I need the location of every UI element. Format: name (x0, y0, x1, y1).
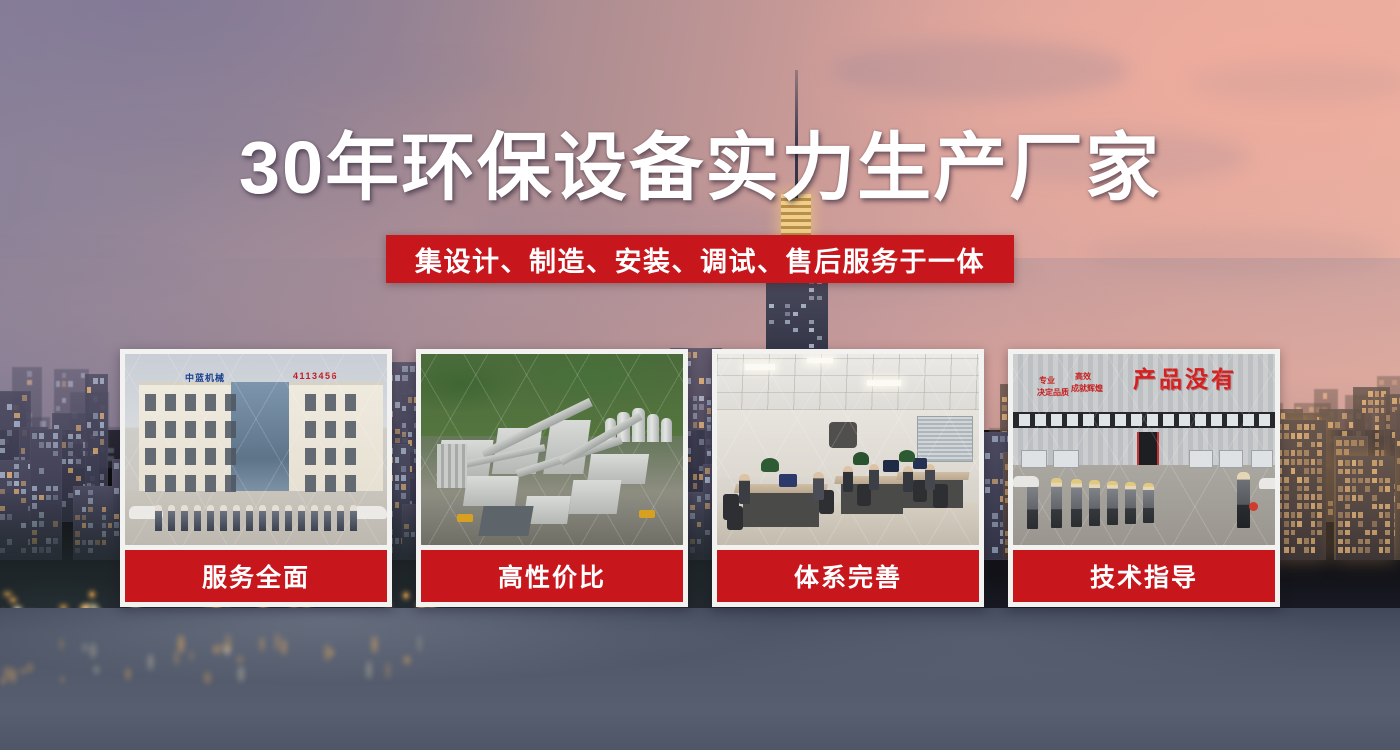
light-reflection (386, 662, 390, 679)
factory-slogan-small-2: 高效 (1075, 372, 1091, 382)
light-reflection (190, 651, 193, 661)
cloud (300, 60, 540, 96)
card-caption: 服务全面 (125, 550, 387, 602)
light-reflection (204, 672, 211, 684)
factory-slogan-small-4: 决定品质 (1037, 388, 1069, 398)
light-reflection (90, 643, 96, 658)
page-title: 30年环保设备实力生产厂家 (0, 131, 1400, 205)
skyline-building (1395, 410, 1400, 560)
card-caption-text: 技术指导 (1090, 558, 1198, 594)
building-phone-text: 4113456 (293, 371, 338, 381)
feature-card[interactable]: 中蓝机械 4113456 服务全面 (120, 349, 392, 607)
ceiling-tile-grid (717, 354, 979, 410)
building-forecourt (125, 491, 387, 545)
light-reflection (372, 636, 377, 653)
light-reflection (213, 645, 220, 654)
card-caption: 技术指导 (1013, 550, 1275, 602)
feature-card[interactable]: 产品没有 专业 决定品质 高效 成就辉煌 技术指导 (1008, 349, 1280, 607)
bank-light (91, 593, 93, 596)
wall-decal (829, 422, 857, 448)
factory-slogan-small-3: 成就辉煌 (1071, 384, 1103, 394)
light-reflection (260, 637, 264, 651)
light-reflection (282, 639, 286, 655)
card-photo-office-building: 中蓝机械 4113456 (125, 354, 387, 545)
skyline-building (1336, 456, 1394, 560)
factory-slogan-main: 产品没有 (1133, 360, 1237, 394)
light-reflection (324, 644, 331, 661)
light-reflection (367, 661, 371, 679)
light-reflection (225, 634, 231, 652)
light-reflection (10, 668, 16, 683)
cloud (830, 40, 1130, 100)
light-reflection (178, 635, 184, 653)
light-reflection (237, 656, 243, 663)
feature-card[interactable]: 体系完善 (712, 349, 984, 607)
light-reflection (20, 668, 27, 674)
card-caption: 体系完善 (717, 550, 979, 602)
factory-slogan-small-1: 专业 (1039, 376, 1055, 386)
feature-card-list: 中蓝机械 4113456 服务全面 高性价比 (120, 349, 1280, 607)
subtitle-text: 集设计、制造、安装、调试、售后服务于一体 (415, 240, 985, 279)
light-reflection (220, 642, 223, 652)
light-reflection (276, 633, 279, 651)
cloud (1190, 60, 1400, 104)
card-photo-office-interior (717, 354, 979, 545)
card-caption-text: 体系完善 (794, 558, 902, 594)
feature-card[interactable]: 高性价比 (416, 349, 688, 607)
light-reflection (27, 663, 33, 672)
bank-light (11, 599, 15, 601)
light-reflection (148, 654, 153, 670)
light-reflection (175, 650, 178, 666)
card-caption-text: 服务全面 (202, 558, 310, 594)
light-reflection (418, 635, 421, 652)
light-reflection (83, 643, 87, 652)
light-reflection (60, 638, 63, 650)
card-photo-factory-workers: 产品没有 专业 决定品质 高效 成就辉煌 (1013, 354, 1275, 545)
card-caption-text: 高性价比 (498, 558, 606, 594)
bank-light (5, 593, 10, 595)
subtitle-banner: 集设计、制造、安装、调试、售后服务于一体 (386, 235, 1014, 283)
light-reflection (126, 668, 130, 680)
card-photo-industrial-plant (421, 354, 683, 545)
light-reflection (404, 656, 410, 664)
light-reflection (94, 666, 99, 674)
building-sign-text: 中蓝机械 (185, 371, 225, 384)
light-reflection (238, 666, 244, 682)
hero-banner: 30年环保设备实力生产厂家 集设计、制造、安装、调试、售后服务于一体 中蓝机械 … (0, 0, 1400, 750)
light-reflection (61, 676, 64, 683)
window-blinds (917, 416, 973, 462)
card-caption: 高性价比 (421, 550, 683, 602)
